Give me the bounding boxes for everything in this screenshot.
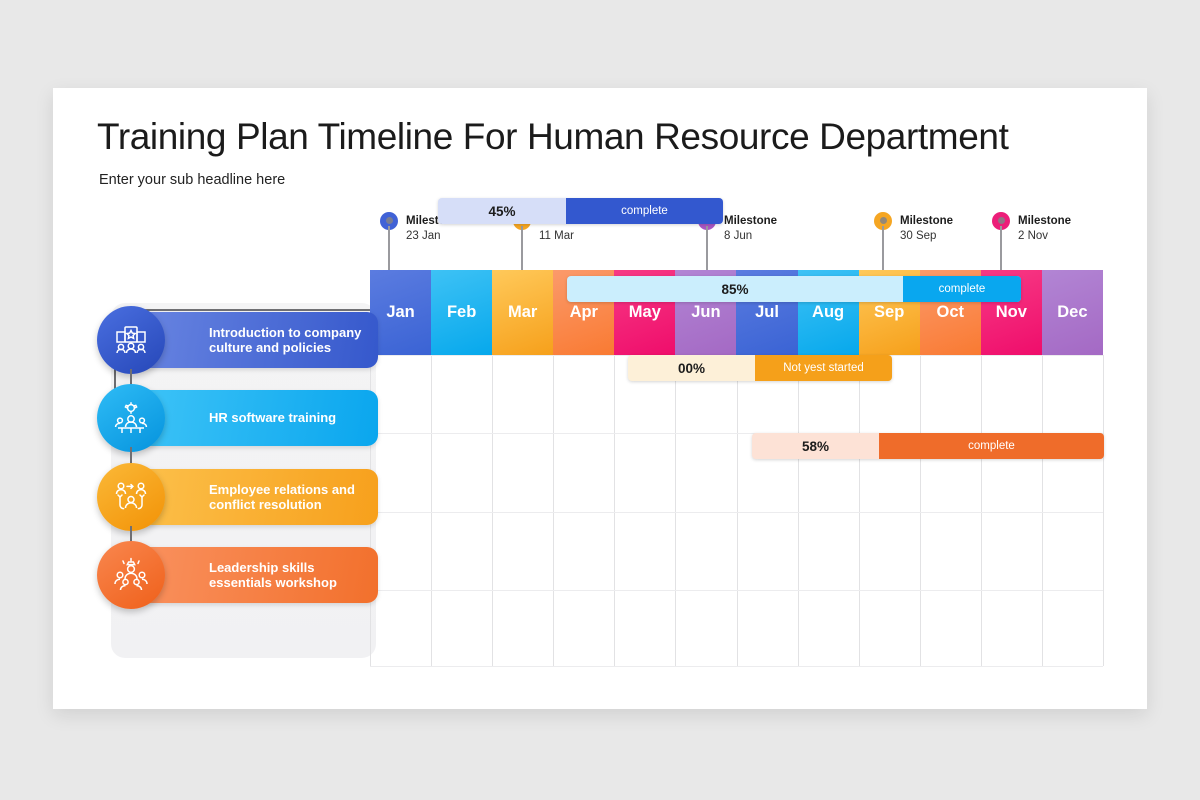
milestone-date: 11 Mar	[539, 229, 592, 244]
progress-status-label: complete	[566, 198, 723, 224]
milestone-text: Milestone30 Sep	[900, 214, 953, 244]
task-row[interactable]: Leadership skills essentials workshop	[131, 547, 378, 603]
milestone-text: Milestone8 Jun	[724, 214, 777, 244]
task-label: Introduction to company culture and poli…	[209, 325, 370, 356]
milestone-label: Milestone	[900, 214, 953, 229]
page-title: Training Plan Timeline For Human Resourc…	[97, 116, 1008, 158]
grid-line-vertical	[1042, 355, 1043, 666]
progress-bar[interactable]: 58%complete	[752, 433, 1104, 459]
progress-status-label: complete	[903, 276, 1021, 302]
month-cell-mar[interactable]: Mar	[492, 270, 553, 355]
progress-status-label: Not yest started	[755, 355, 892, 381]
milestone-date: 8 Jun	[724, 229, 777, 244]
grid-line-vertical	[1103, 355, 1104, 666]
grid-line-vertical	[614, 355, 615, 666]
progress-percent-label: 00%	[628, 355, 755, 381]
hr-software-icon	[97, 384, 165, 452]
page-subtitle: Enter your sub headline here	[99, 172, 285, 188]
grid-line-vertical	[675, 355, 676, 666]
slide-canvas: Training Plan Timeline For Human Resourc…	[53, 88, 1147, 709]
grid-line-vertical	[553, 355, 554, 666]
grid-line-vertical	[798, 355, 799, 666]
milestone-date: 2 Nov	[1018, 229, 1071, 244]
grid-line-vertical	[920, 355, 921, 666]
grid-line-horizontal	[370, 666, 1103, 667]
progress-percent-label: 58%	[752, 433, 879, 459]
leadership-icon	[97, 541, 165, 609]
month-cell-jan[interactable]: Jan	[370, 270, 431, 355]
milestone-label: Milestone	[1018, 214, 1071, 229]
task-row[interactable]: Introduction to company culture and poli…	[131, 312, 378, 368]
progress-bar[interactable]: 85%complete	[567, 276, 1021, 302]
progress-bar[interactable]: 45%complete	[438, 198, 723, 224]
progress-bar[interactable]: 00%Not yest started	[628, 355, 892, 381]
grid-line-horizontal	[370, 512, 1103, 513]
month-cell-feb[interactable]: Feb	[431, 270, 492, 355]
task-row[interactable]: Employee relations and conflict resoluti…	[131, 469, 378, 525]
task-row[interactable]: HR software training	[131, 390, 378, 446]
task-label: Leadership skills essentials workshop	[209, 560, 370, 591]
milestone-date: 23 Jan	[406, 229, 459, 244]
milestone-label: Milestone	[724, 214, 777, 229]
company-culture-icon	[97, 306, 165, 374]
grid-line-vertical	[859, 355, 860, 666]
milestone-text: Milestone2 Nov	[1018, 214, 1071, 244]
progress-percent-label: 45%	[438, 198, 566, 224]
grid-line-vertical	[981, 355, 982, 666]
employee-relations-icon	[97, 463, 165, 531]
grid-line-horizontal	[370, 590, 1103, 591]
grid-line-vertical	[492, 355, 493, 666]
grid-line-vertical	[737, 355, 738, 666]
milestone-date: 30 Sep	[900, 229, 953, 244]
timeline-grid	[370, 355, 1103, 666]
grid-line-vertical	[431, 355, 432, 666]
task-label: Employee relations and conflict resoluti…	[209, 482, 370, 513]
task-label: HR software training	[209, 410, 336, 426]
progress-status-label: complete	[879, 433, 1104, 459]
month-cell-dec[interactable]: Dec	[1042, 270, 1103, 355]
progress-percent-label: 85%	[567, 276, 903, 302]
